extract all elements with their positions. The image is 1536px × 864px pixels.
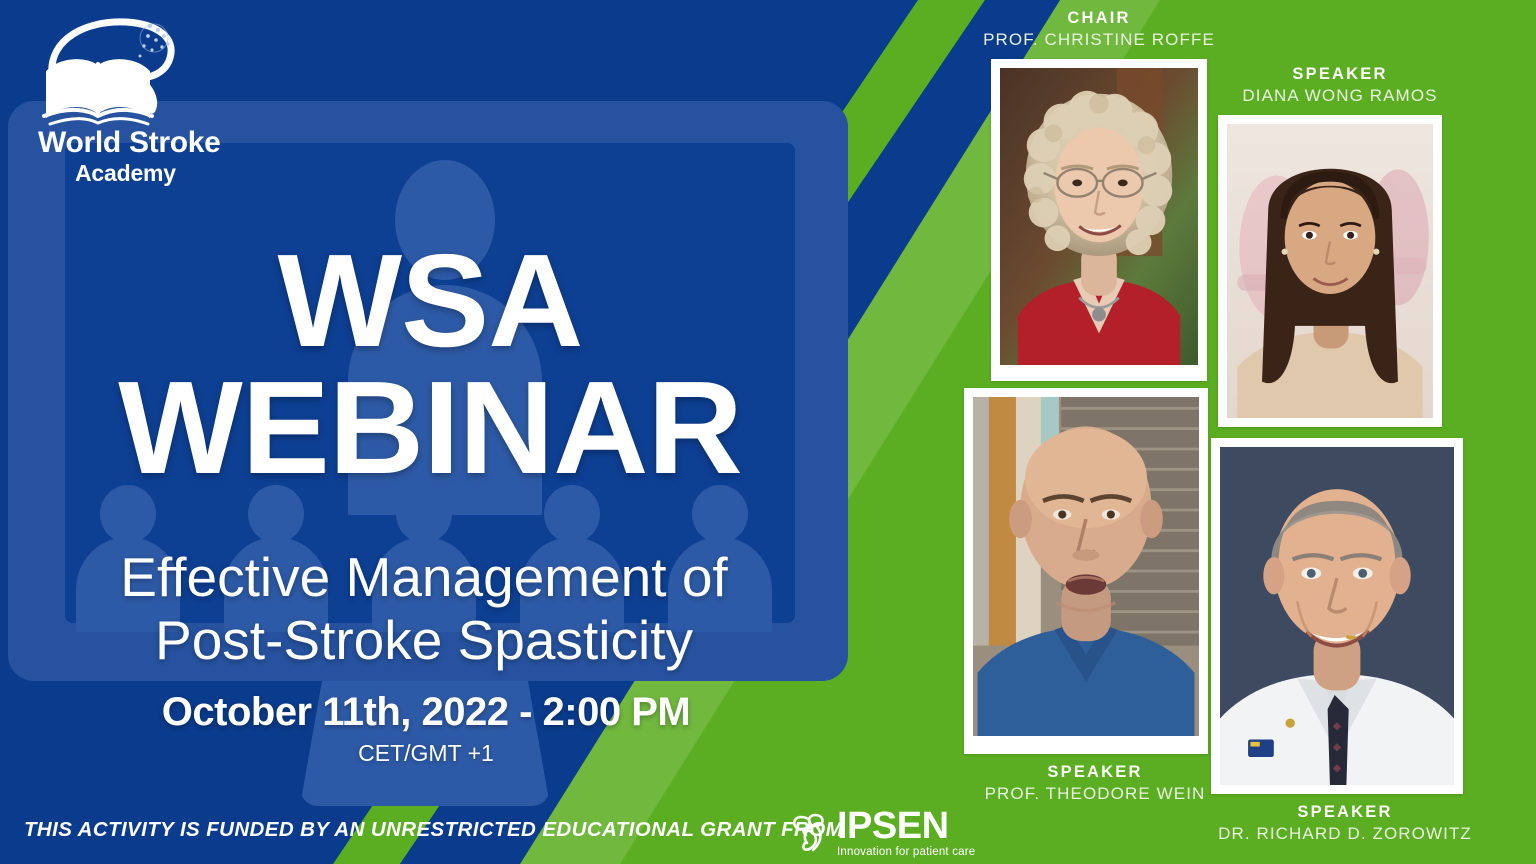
logo-text-line2: Academy bbox=[75, 160, 176, 187]
person-role-label: CHAIR bbox=[960, 8, 1238, 29]
title-line-2: WEBINAR bbox=[0, 365, 860, 492]
sponsor-logo-ipsen: IPSEN Innovation for patient care bbox=[793, 808, 975, 858]
event-timezone: CET/GMT +1 bbox=[0, 740, 852, 767]
person-photo-frame bbox=[964, 388, 1208, 754]
person-name-label: DIANA WONG RAMOS bbox=[1190, 85, 1490, 107]
world-stroke-academy-logo: World Stroke Academy bbox=[30, 14, 270, 179]
portrait-theodore-wein bbox=[973, 397, 1199, 745]
title-line-1: WSA bbox=[0, 238, 860, 365]
subtitle-line-1: Effective Management of bbox=[120, 546, 727, 608]
sponsor-tagline: Innovation for patient care bbox=[837, 846, 975, 858]
person-card-speaker-3: SPEAKER DR. RICHARD D. ZOROWITZ bbox=[1195, 438, 1495, 845]
person-photo-frame bbox=[1218, 115, 1442, 427]
ipsen-dna-icon bbox=[793, 810, 833, 856]
person-role-label: SPEAKER bbox=[1190, 64, 1490, 85]
webinar-subtitle: Effective Management of Post-Stroke Spas… bbox=[0, 546, 848, 671]
sponsor-name: IPSEN bbox=[837, 808, 975, 844]
portrait-christine-roffe bbox=[1000, 68, 1198, 372]
person-name-label: PROF. CHRISTINE ROFFE bbox=[960, 29, 1238, 51]
open-book-logo-icon bbox=[30, 14, 230, 126]
portrait-richard-zorowitz bbox=[1220, 447, 1454, 785]
person-photo-frame bbox=[1211, 438, 1463, 794]
person-photo-frame bbox=[991, 59, 1207, 381]
portrait-diana-wong-ramos bbox=[1227, 124, 1433, 418]
subtitle-line-2: Post-Stroke Spasticity bbox=[155, 609, 693, 671]
logo-text-line1: World Stroke bbox=[38, 126, 221, 160]
page-title: WSA WEBINAR bbox=[0, 238, 860, 491]
person-name-label: DR. RICHARD D. ZOROWITZ bbox=[1195, 823, 1495, 845]
webinar-promo-slide: World Stroke Academy WSA WEBINAR Effecti… bbox=[0, 0, 1536, 864]
person-role-label: SPEAKER bbox=[1195, 802, 1495, 823]
event-datetime: October 11th, 2022 - 2:00 PM bbox=[0, 690, 852, 735]
funding-disclaimer: THIS ACTIVITY IS FUNDED BY AN UNRESTRICT… bbox=[24, 818, 843, 842]
person-card-speaker-1: SPEAKER DIANA WONG RAMOS bbox=[1190, 64, 1490, 427]
